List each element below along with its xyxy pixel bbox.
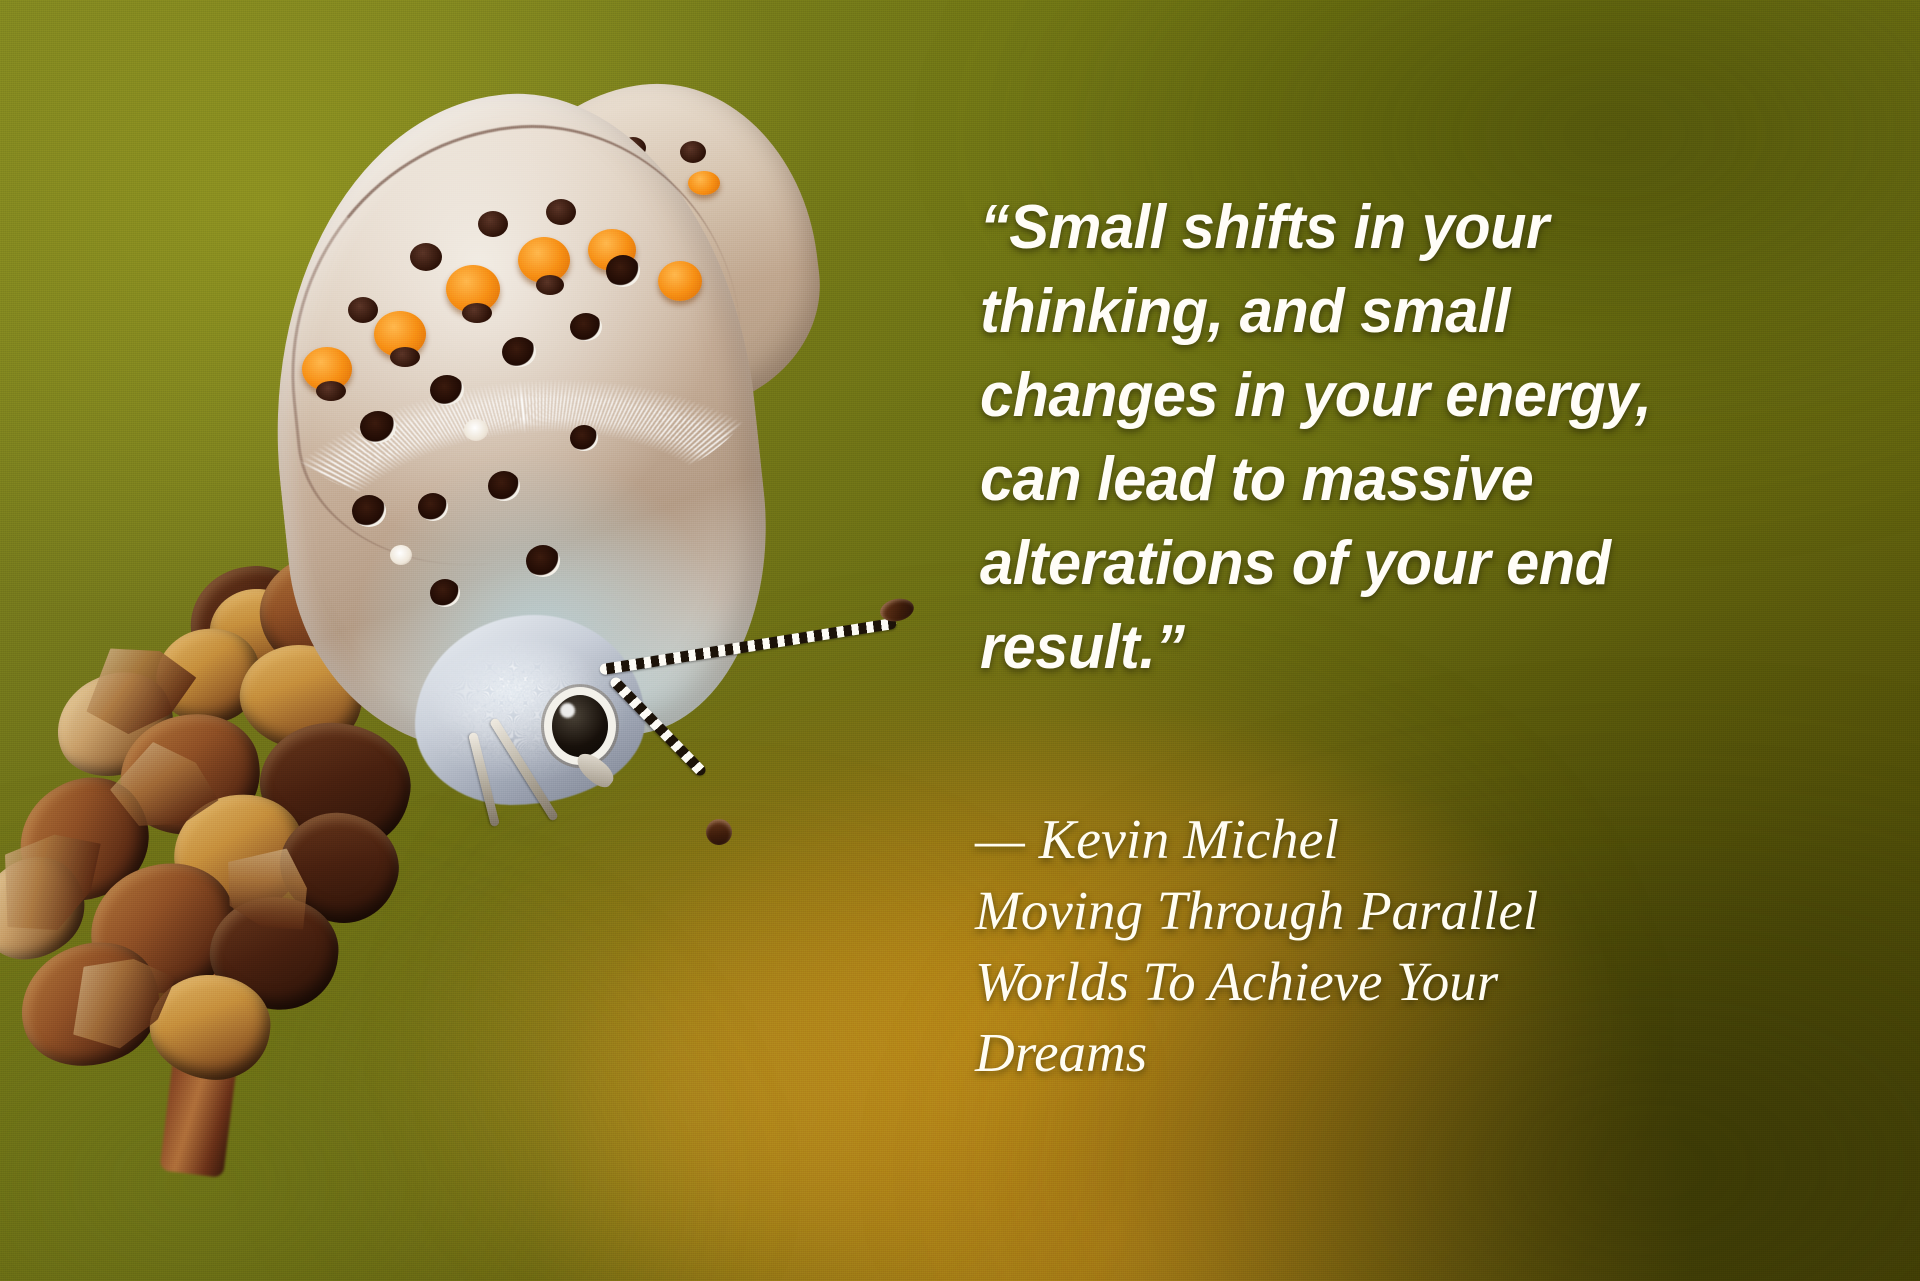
quote-line-4: can lead to massive [980,438,1815,522]
quote-line-6: result.” [980,606,1815,690]
quote-line-3: changes in your energy, [980,354,1815,438]
attribution-source-line-2: Worlds To Achieve Your [975,946,1855,1017]
quote-line-5: alterations of your end [980,522,1815,606]
quote-line-2: thinking, and small [980,270,1815,354]
attribution-block: — Kevin Michel Moving Through Parallel W… [975,805,1855,1088]
attribution-author: — Kevin Michel [975,805,1855,875]
quote-line-1: “Small shifts in your [980,186,1815,270]
quote-text-block: “Small shifts in your thinking, and smal… [980,186,1850,690]
attribution-source-line-3: Dreams [975,1017,1855,1088]
quote-image-canvas: “Small shifts in your thinking, and smal… [0,0,1920,1281]
attribution-source-line-1: Moving Through Parallel [975,875,1855,946]
